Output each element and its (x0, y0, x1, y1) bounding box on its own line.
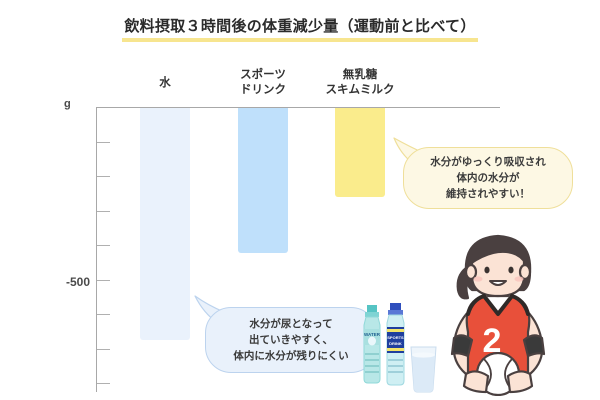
milk-speech-bubble: 水分がゆっくり吸収され 体内の水分が 維持されやすい！ (403, 147, 573, 209)
sports-drink-bottle-icon: SPORTS DRINK (387, 303, 404, 385)
jersey-number: 2 (483, 322, 502, 360)
svg-text:DRINK: DRINK (389, 341, 402, 346)
y-axis-tick-400 (97, 245, 110, 246)
y-axis-tick-800 (97, 383, 110, 384)
bar-sports-drink (238, 108, 288, 253)
y-axis-tick-200 (97, 176, 110, 177)
y-axis-unit-label: g (64, 98, 71, 110)
y-axis-label-500-wrap: -500 (30, 273, 90, 291)
page-title: 飲料摂取３時間後の体重減少量（運動前と比べて） (0, 18, 600, 42)
volleyball-player-illustration: 2 (432, 228, 564, 396)
infographic-canvas: 飲料摂取３時間後の体重減少量（運動前と比べて） g -500 水 スポーツ ドリ… (0, 0, 600, 400)
milk-bubble-text: 水分がゆっくり吸収され 体内の水分が 維持されやすい！ (430, 154, 546, 203)
bar-label-sports-drink: スポーツ ドリンク (213, 68, 313, 97)
y-axis-label-500: -500 (66, 275, 90, 289)
bar-water (140, 108, 190, 340)
bar-label-water: 水 (115, 76, 215, 91)
water-bubble-text: 水分が尿となって 出ていきやすく、 体内に水分が残りにくい (233, 316, 348, 365)
y-axis-tick-100 (97, 142, 110, 143)
svg-text:WATER: WATER (364, 332, 381, 337)
drinks-illustration: WATER SPORTS DRINK (356, 303, 444, 395)
y-axis-tick-600 (97, 314, 110, 315)
y-axis-tick-500 (97, 280, 110, 281)
bar-label-skim-milk: 無乳糖 スキムミルク (305, 68, 415, 97)
water-speech-bubble: 水分が尿となって 出ていきやすく、 体内に水分が残りにくい (205, 307, 377, 373)
water-bottle-icon: WATER (364, 305, 381, 383)
y-axis-tick-300 (97, 211, 110, 212)
bar-skim-milk (335, 108, 385, 197)
y-axis-tick-700 (97, 349, 110, 350)
svg-text:SPORTS: SPORTS (387, 335, 404, 340)
page-title-text: 飲料摂取３時間後の体重減少量（運動前と比べて） (122, 18, 477, 42)
